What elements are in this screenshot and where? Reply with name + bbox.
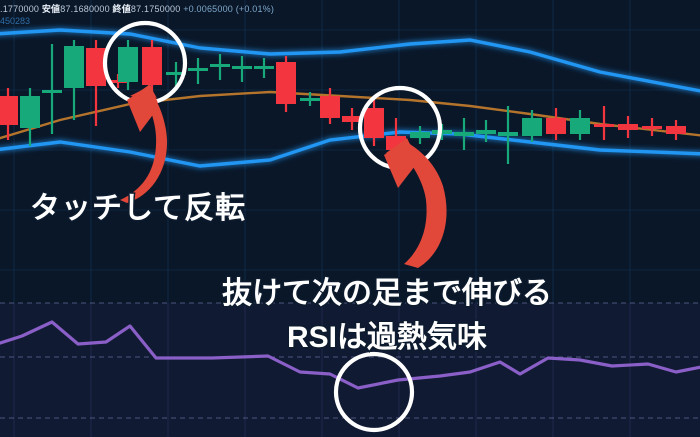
- quote-close-value: 87.1750000: [131, 4, 181, 14]
- quote-change-percent: (+0.01%): [236, 4, 274, 14]
- annotation-rsi-overheat-text: RSIは過熱気味: [287, 321, 487, 354]
- annotation-touch-reverse: タッチして反転: [30, 183, 246, 227]
- quote-header: .1770000 安値87.1680000 終値87.1750000 +0.00…: [0, 2, 274, 15]
- quote-close-label: 終値: [113, 4, 131, 14]
- annotation-rsi-overheat: RSIは過熱気味: [287, 312, 487, 356]
- arrow-break-icon: [384, 138, 447, 268]
- quote-low-value: 87.1680000: [60, 4, 110, 14]
- chart-screenshot: .1770000 安値87.1680000 終値87.1750000 +0.00…: [0, 0, 700, 437]
- circle-rsi: [336, 354, 412, 430]
- quote-change: +0.0065000: [183, 4, 233, 14]
- quote-open-truncated: .1770000: [0, 4, 39, 14]
- annotation-break-extend: 抜けて次の足まで伸びる: [222, 268, 552, 312]
- annotation-touch-reverse-text: タッチして反転: [30, 192, 246, 225]
- volume-line: 450283: [0, 16, 30, 26]
- quote-low-label: 安値: [42, 4, 60, 14]
- annotation-break-extend-text: 抜けて次の足まで伸びる: [222, 277, 552, 310]
